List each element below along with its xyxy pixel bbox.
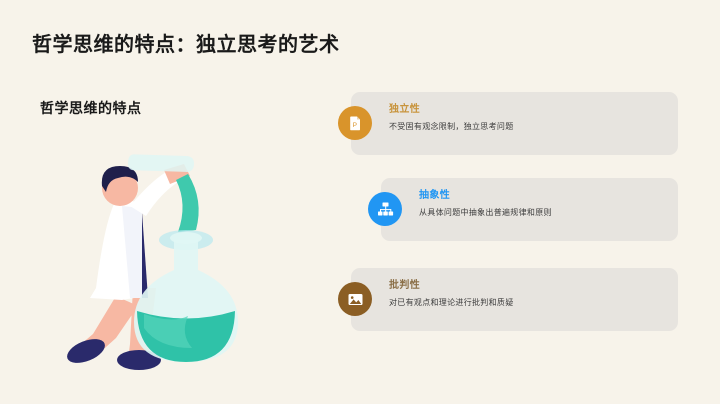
card-title: 抽象性 <box>419 189 668 203</box>
document-icon: P <box>338 106 372 140</box>
card-description: 从具体问题中抽象出普遍规律和原则 <box>419 207 668 219</box>
sitemap-icon <box>368 192 402 226</box>
feature-card-criticism[interactable]: 批判性 对已有观点和理论进行批判和质疑 <box>351 268 678 331</box>
feature-card-abstraction[interactable]: 抽象性 从具体问题中抽象出普遍规律和原则 <box>381 178 678 241</box>
card-title: 批判性 <box>389 279 668 293</box>
slide-canvas: 哲学思维的特点：独立思考的艺术 哲学思维的特点 <box>0 0 720 404</box>
card-description: 不受固有观念限制，独立思考问题 <box>389 121 668 133</box>
card-title: 独立性 <box>389 103 668 117</box>
card-description: 对已有观点和理论进行批判和质疑 <box>389 297 668 309</box>
svg-text:P: P <box>353 122 357 129</box>
feature-card-independence[interactable]: 独立性 不受固有观念限制，独立思考问题 <box>351 92 678 155</box>
image-icon <box>338 282 372 316</box>
feature-card-list: 独立性 不受固有观念限制，独立思考问题 P 抽象性 从具体问题中抽象出普遍规律和… <box>0 0 720 404</box>
